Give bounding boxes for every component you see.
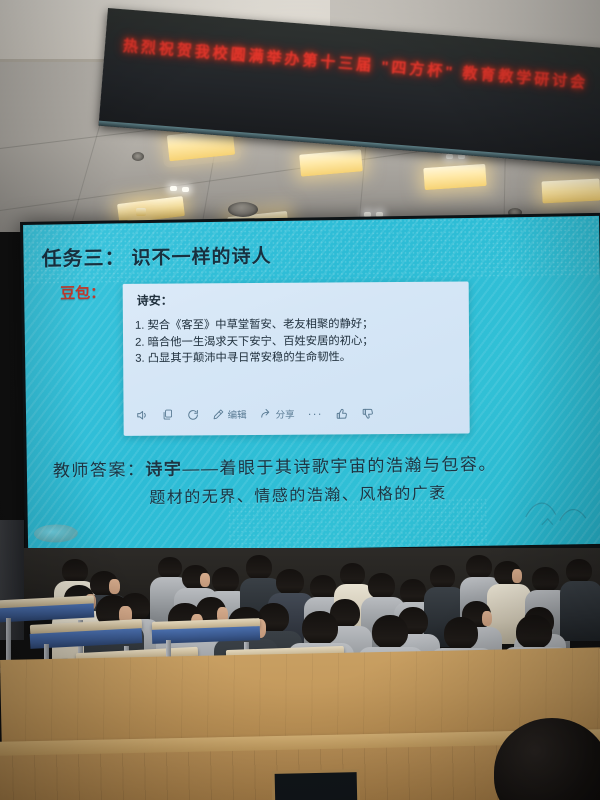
ceiling-vent-icon (132, 152, 144, 161)
ceiling-spotlight (446, 154, 453, 159)
teacher-answer: 教师答案：诗宇——着眼于其诗歌宇宙的浩瀚与包容。 题材的无界、情感的浩瀚、风格的… (53, 450, 498, 510)
projection-screen-frame: 任务三：识不一样的诗人 豆包： 诗安： 1. 契合《客至》中草堂暂安、老友相聚的… (20, 213, 600, 558)
face (109, 579, 120, 594)
face (482, 611, 492, 626)
head (516, 615, 552, 649)
head (400, 579, 426, 604)
ceiling-light (136, 208, 146, 216)
teacher-answer-lead: 教师答案： (53, 460, 146, 480)
head (340, 563, 365, 586)
body (560, 581, 600, 641)
head (430, 565, 455, 589)
ai-card-heading: 诗安： (137, 292, 173, 309)
head (310, 575, 336, 599)
head (212, 567, 239, 593)
ai-answer-card: 诗安： 1. 契合《客至》中草堂暂安、老友相聚的静好； 2. 暗合他一生渴求天下… (123, 281, 470, 435)
head (158, 557, 182, 579)
teacher-answer-line1: 教师答案：诗宇——着眼于其诗歌宇宙的浩瀚与包容。 (53, 450, 497, 482)
ai-answer-list: 1. 契合《客至》中草堂暂安、老友相聚的静好； 2. 暗合他一生渴求天下安宁、百… (135, 316, 465, 368)
teacher-answer-key: 诗宇 (145, 459, 182, 479)
head (246, 555, 272, 580)
head (368, 573, 395, 599)
slide-title: 任务三：识不一样的诗人 (41, 239, 271, 272)
speaker-icon[interactable] (136, 408, 149, 421)
stage-vent-icon (272, 769, 361, 800)
slide-title-main: 识不一样的诗人 (131, 246, 271, 269)
screen-doodle-icon (521, 490, 592, 531)
ceiling-spotlight (182, 187, 189, 192)
led-banner-text: 热烈祝贺我校圆满举办第十三届 "四方杯" 教育教学研讨会 (122, 35, 600, 97)
teacher-answer-rest: ——着眼于其诗歌宇宙的浩瀚与包容。 (182, 455, 497, 479)
face (512, 569, 522, 583)
list-item: 3. 凸显其于颠沛中寻日常安稳的生命韧性。 (135, 348, 465, 367)
ai-card-toolbar: 编辑 分享 ··· (136, 406, 375, 422)
head (466, 555, 492, 579)
thumbs-down-icon[interactable] (362, 407, 375, 420)
head (566, 559, 592, 583)
doubao-label: 豆包： (60, 282, 105, 304)
face (200, 573, 210, 587)
head (302, 611, 338, 645)
slide-title-prefix: 任务三： (41, 247, 125, 270)
head (276, 569, 304, 595)
edit-label: 编辑 (228, 407, 247, 421)
head (444, 617, 478, 650)
head (372, 615, 408, 649)
ceiling-light (541, 178, 600, 203)
classroom-photo-scene: 热烈祝贺我校圆满举办第十三届 "四方杯" 教育教学研讨会 任务三：识不一样的诗人… (0, 0, 600, 800)
more-icon[interactable]: ··· (308, 409, 323, 417)
copy-icon[interactable] (162, 409, 174, 421)
share-icon[interactable]: 分享 (260, 407, 295, 421)
share-label: 分享 (276, 407, 295, 421)
projection-screen: 任务三：识不一样的诗人 豆包： 诗安： 1. 契合《客至》中草堂暂安、老友相聚的… (23, 216, 600, 553)
ceiling-spotlight (170, 186, 177, 191)
ceiling-light (423, 164, 486, 190)
ceiling-vent-icon (228, 202, 258, 217)
screen-artifact (34, 524, 78, 543)
ceiling-light (299, 149, 363, 176)
thumbs-up-icon[interactable] (336, 407, 349, 420)
head (532, 567, 559, 592)
head (62, 559, 88, 583)
refresh-icon[interactable] (187, 408, 200, 421)
edit-icon[interactable]: 编辑 (213, 407, 247, 421)
